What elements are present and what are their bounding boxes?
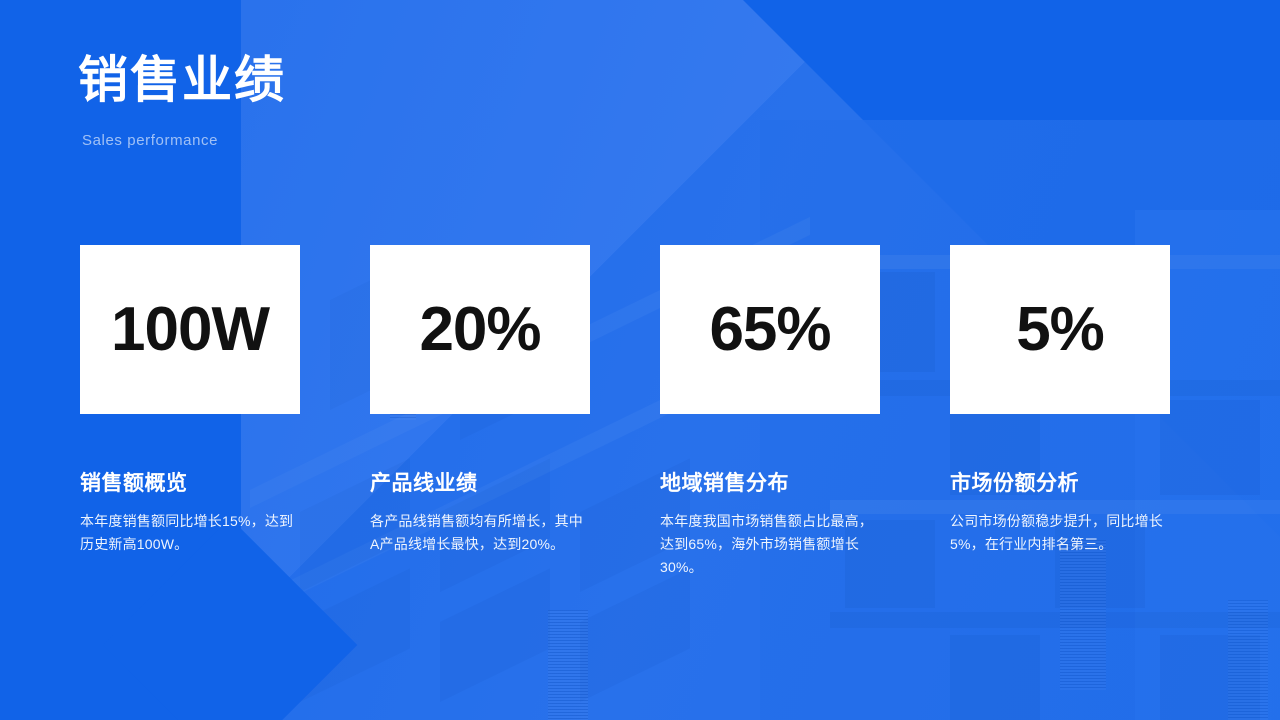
stat-card-market-share[interactable]: 5% 市场份额分析 公司市场份额稳步提升，同比增长5%，在行业内排名第三。	[950, 245, 1170, 579]
stat-value-box: 5%	[950, 245, 1170, 414]
stat-value: 100W	[111, 299, 269, 361]
page-subtitle: Sales performance	[82, 132, 218, 149]
stat-value: 65%	[709, 299, 830, 361]
card-description: 本年度销售额同比增长15%，达到历史新高100W。	[80, 510, 300, 556]
card-heading: 销售额概览	[80, 471, 300, 496]
slide-canvas: 销售业绩 Sales performance 100W 销售额概览 本年度销售额…	[0, 0, 1280, 720]
card-heading: 产品线业绩	[370, 471, 590, 496]
stat-value: 20%	[419, 299, 540, 361]
card-heading: 地域销售分布	[660, 471, 880, 496]
stat-card-product-line[interactable]: 20% 产品线业绩 各产品线销售额均有所增长，其中A产品线增长最快，达到20%。	[370, 245, 590, 579]
card-heading: 市场份额分析	[950, 471, 1170, 496]
stat-value-box: 20%	[370, 245, 590, 414]
card-description: 本年度我国市场销售额占比最高，达到65%，海外市场销售额增长30%。	[660, 510, 880, 579]
stat-card-row: 100W 销售额概览 本年度销售额同比增长15%，达到历史新高100W。 20%…	[80, 245, 1176, 579]
page-title: 销售业绩	[78, 52, 286, 110]
stat-value: 5%	[1016, 299, 1104, 361]
slide-content: 销售业绩 Sales performance 100W 销售额概览 本年度销售额…	[0, 0, 1280, 720]
stat-value-box: 65%	[660, 245, 880, 414]
stat-value-box: 100W	[80, 245, 300, 414]
stat-card-sales-overview[interactable]: 100W 销售额概览 本年度销售额同比增长15%，达到历史新高100W。	[80, 245, 300, 579]
card-description: 公司市场份额稳步提升，同比增长5%，在行业内排名第三。	[950, 510, 1170, 556]
card-description: 各产品线销售额均有所增长，其中A产品线增长最快，达到20%。	[370, 510, 590, 556]
stat-card-regional-distribution[interactable]: 65% 地域销售分布 本年度我国市场销售额占比最高，达到65%，海外市场销售额增…	[660, 245, 880, 579]
